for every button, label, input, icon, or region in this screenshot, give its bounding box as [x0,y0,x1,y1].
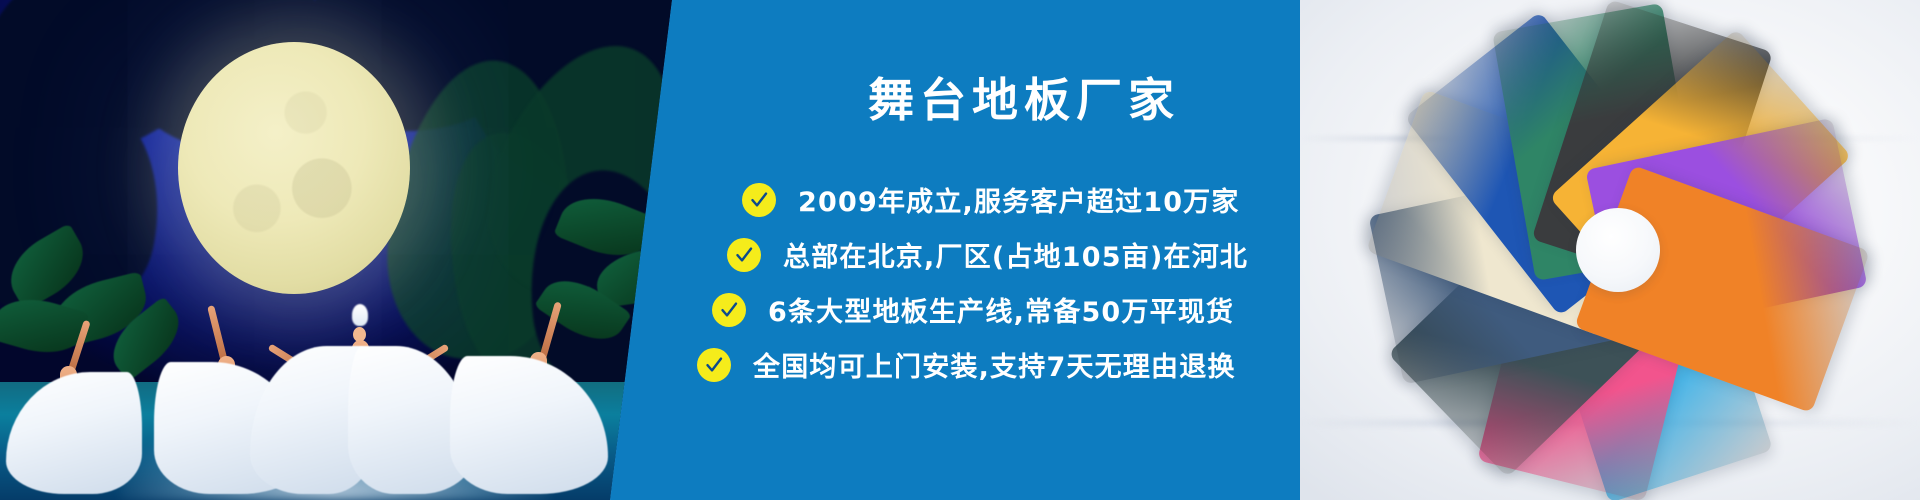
moon-texture [178,42,410,294]
check-circle-icon [727,238,761,272]
list-item-label: 2009年成立,服务客户超过10万家 [798,180,1240,219]
promo-banner: 舞台地板厂家 2009年成立,服务客户超过10万家 总部在北京,厂区(占地105… [0,0,1920,500]
check-circle-icon [712,293,746,327]
dancer-gown [450,356,608,494]
moon-backdrop [178,42,410,294]
list-item-production: 6条大型地板生产线,常备50万平现货 [672,282,1312,337]
list-item-founded: 2009年成立,服务客户超过10万家 [672,172,1312,227]
list-item-label: 总部在北京,厂区(占地105亩)在河北 [783,235,1248,274]
list-item-label: 6条大型地板生产线,常备50万平现货 [768,290,1234,329]
dancer-figure [440,288,610,494]
page-title: 舞台地板厂家 [868,64,1180,130]
dancer-gown [6,372,142,494]
list-item-installation: 全国均可上门安装,支持7天无理由退换 [672,337,1312,392]
check-circle-icon [697,348,731,382]
dancer-figure [10,304,150,494]
list-item-label: 全国均可上门安装,支持7天无理由退换 [753,345,1236,384]
feature-list: 2009年成立,服务客户超过10万家 总部在北京,厂区(占地105亩)在河北 6… [672,172,1312,392]
list-item-headquarters: 总部在北京,厂区(占地105亩)在河北 [672,227,1312,282]
check-circle-icon [742,183,776,217]
color-sample-fan [1338,0,1898,500]
fan-hub [1576,208,1660,292]
panel-content: 舞台地板厂家 2009年成立,服务客户超过10万家 总部在北京,厂区(占地105… [672,0,1312,500]
dancer-headdress [352,304,368,326]
stage-performance-photo [0,0,700,500]
color-samples-photo [1300,0,1920,500]
